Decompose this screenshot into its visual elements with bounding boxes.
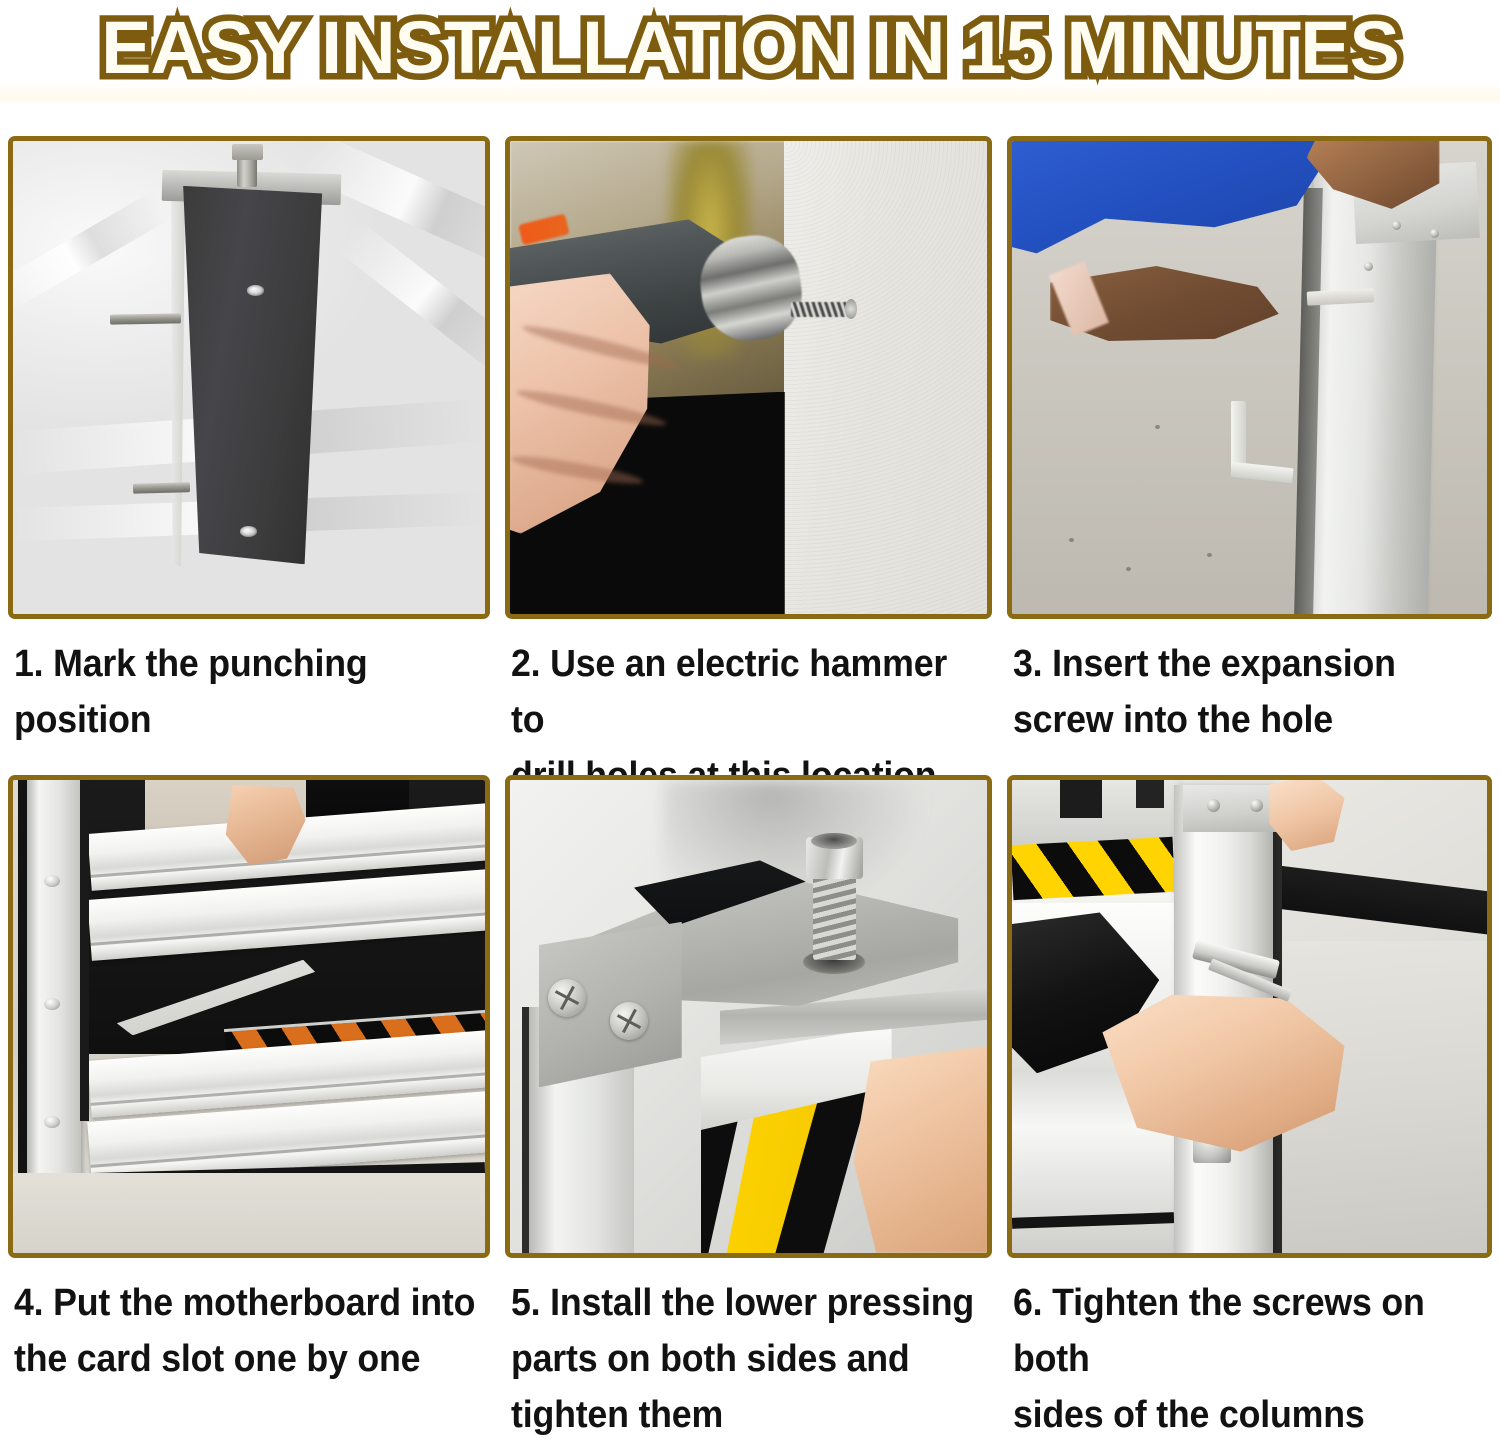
photo-insert-expansion-screw: [1012, 141, 1487, 614]
step-caption-3: 3. Insert the expansion screw into the h…: [1013, 636, 1483, 748]
step-image-5: [505, 775, 992, 1258]
step-image-2: [505, 136, 992, 619]
step-card-2: 2. Use an electric hammer to drill holes…: [505, 136, 992, 756]
title-banner: EASY INSTALLATION IN 15 MINUTES: [0, 0, 1500, 104]
step-caption-4: 4. Put the motherboard into the card slo…: [14, 1275, 484, 1387]
photo-tighten-screws-on-columns: [1012, 780, 1487, 1253]
photo-install-lower-pressing-parts: [510, 780, 987, 1253]
step-card-4: 4. Put the motherboard into the card slo…: [8, 775, 490, 1398]
step-image-3: [1007, 136, 1492, 619]
photo-drill-holes-in-wall: [510, 141, 987, 614]
step-image-6: [1007, 775, 1492, 1258]
step-image-4: [8, 775, 490, 1258]
step-card-6: 6. Tighten the screws on both sides of t…: [1007, 775, 1492, 1398]
step-caption-5: 5. Install the lower pressing parts on b…: [511, 1275, 981, 1443]
step-card-1: 1. Mark the punching position: [8, 136, 490, 756]
page-title: EASY INSTALLATION IN 15 MINUTES: [0, 2, 1500, 94]
step-card-3: 3. Insert the expansion screw into the h…: [1007, 136, 1492, 756]
step-image-1: [8, 136, 490, 619]
installation-steps-grid: 1. Mark the punching position 2. Use an …: [8, 136, 1492, 1398]
photo-motherboard-into-card-slot: [13, 780, 485, 1253]
step-caption-1: 1. Mark the punching position: [14, 636, 484, 748]
step-card-5: 5. Install the lower pressing parts on b…: [505, 775, 992, 1398]
step-caption-6: 6. Tighten the screws on both sides of t…: [1013, 1275, 1483, 1443]
photo-mark-punching-position: [13, 141, 485, 614]
